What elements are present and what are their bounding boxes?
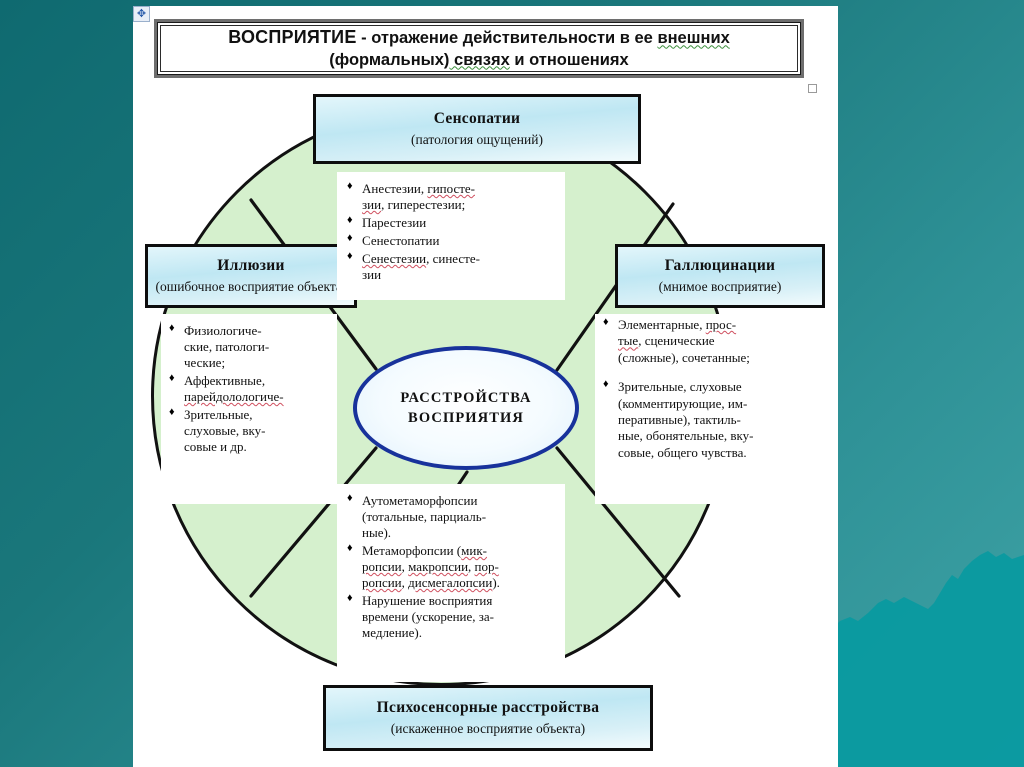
center-ellipse-perception-disorders[interactable]: РАССТРОЙСТВАВОСПРИЯТИЯ — [353, 346, 579, 470]
list-item: Сенестопатии — [345, 233, 559, 249]
center-line-1: РАССТРОЙСТВА — [400, 390, 531, 406]
list-item: Зрительные,слуховые, вку-совые и др. — [167, 407, 333, 455]
center-line-2: ВОСПРИЯТИЯ — [408, 410, 524, 426]
title-rest-1b: внешних — [657, 29, 729, 47]
list-sensopathies: Анестезии, гипосте-зии, гиперестезии; Па… — [345, 181, 559, 283]
box-illusions-subtitle: (ошибочное восприятие объекта) — [156, 279, 347, 296]
center-ellipse-label: РАССТРОЙСТВАВОСПРИЯТИЯ — [400, 388, 531, 429]
list-item: Зрительные, слуховые(комментирующие, им-… — [601, 379, 805, 461]
box-psychosensory-disorders[interactable]: Психосенсорные расстройства (искаженное … — [323, 685, 653, 751]
list-item: Метаморфопсии (мик-ропсии, макропсии, по… — [345, 543, 561, 591]
list-item: Аффективные,парейдолологиче- — [167, 373, 333, 405]
list-panel-hallucinations: Элементарные, прос-тые, сценические(слож… — [595, 314, 811, 504]
list-item: Физиологиче-ские, патологи-ческие; — [167, 323, 333, 371]
list-item: Аутометаморфопсии(тотальные, парциаль-ны… — [345, 493, 561, 541]
list-item: Нарушение восприятиявремени (ускорение, … — [345, 593, 561, 641]
box-sensopathies-title: Сенсопатии — [434, 109, 521, 128]
box-psychosensory-subtitle: (искаженное восприятие объекта) — [391, 721, 585, 738]
box-illusions-title: Иллюзии — [217, 256, 284, 275]
title-rest-2a: (формальных) — [329, 51, 449, 69]
list-hallucinations: Элементарные, прос-тые, сценические(слож… — [601, 317, 805, 461]
list-item: Элементарные, прос-тые, сценические(слож… — [601, 317, 805, 366]
box-sensopathies[interactable]: Сенсопатии (патология ощущений) — [313, 94, 641, 164]
list-illusions: Физиологиче-ские, патологи-ческие; Аффек… — [167, 323, 333, 455]
box-hallucinations[interactable]: Галлюцинации (мнимое восприятие) — [615, 244, 825, 308]
diagram-stage: Сенсопатии (патология ощущений) Иллюзии … — [133, 84, 838, 764]
page-title: ВОСПРИЯТИЕ - отражение действительности … — [220, 26, 738, 70]
box-illusions[interactable]: Иллюзии (ошибочное восприятие объекта) — [145, 244, 357, 308]
box-psychosensory-title: Психосенсорные расстройства — [377, 698, 600, 717]
title-banner-inner: ВОСПРИЯТИЕ - отражение действительности … — [160, 25, 798, 72]
title-keyword: ВОСПРИЯТИЕ — [228, 27, 356, 47]
title-banner: ВОСПРИЯТИЕ - отражение действительности … — [154, 19, 804, 78]
title-rest-2c: и отношениях — [510, 51, 629, 69]
list-item: Сенестезии, синесте-зии — [345, 251, 559, 283]
list-panel-illusions: Физиологиче-ские, патологи-ческие; Аффек… — [161, 314, 337, 504]
list-item: Парестезии — [345, 215, 559, 231]
box-hallucinations-subtitle: (мнимое восприятие) — [659, 279, 782, 296]
move-handle-icon[interactable]: ✥ — [133, 6, 150, 22]
list-psychosensory: Аутометаморфопсии(тотальные, парциаль-ны… — [345, 493, 561, 641]
list-panel-sensopathies: Анестезии, гипосте-зии, гиперестезии; Па… — [337, 172, 565, 300]
list-panel-psychosensory: Аутометаморфопсии(тотальные, парциаль-ны… — [337, 484, 565, 682]
title-dash: - — [357, 29, 372, 47]
list-item: Анестезии, гипосте-зии, гиперестезии; — [345, 181, 559, 213]
slide-white-panel: ✥ ВОСПРИЯТИЕ - отражение действительност… — [133, 6, 838, 767]
box-hallucinations-title: Галлюцинации — [665, 256, 776, 275]
title-rest-1a: отражение действительности в ее — [371, 29, 657, 47]
move-cross-glyph: ✥ — [137, 9, 146, 20]
box-sensopathies-subtitle: (патология ощущений) — [411, 132, 543, 149]
title-rest-2b: связях — [449, 51, 509, 69]
